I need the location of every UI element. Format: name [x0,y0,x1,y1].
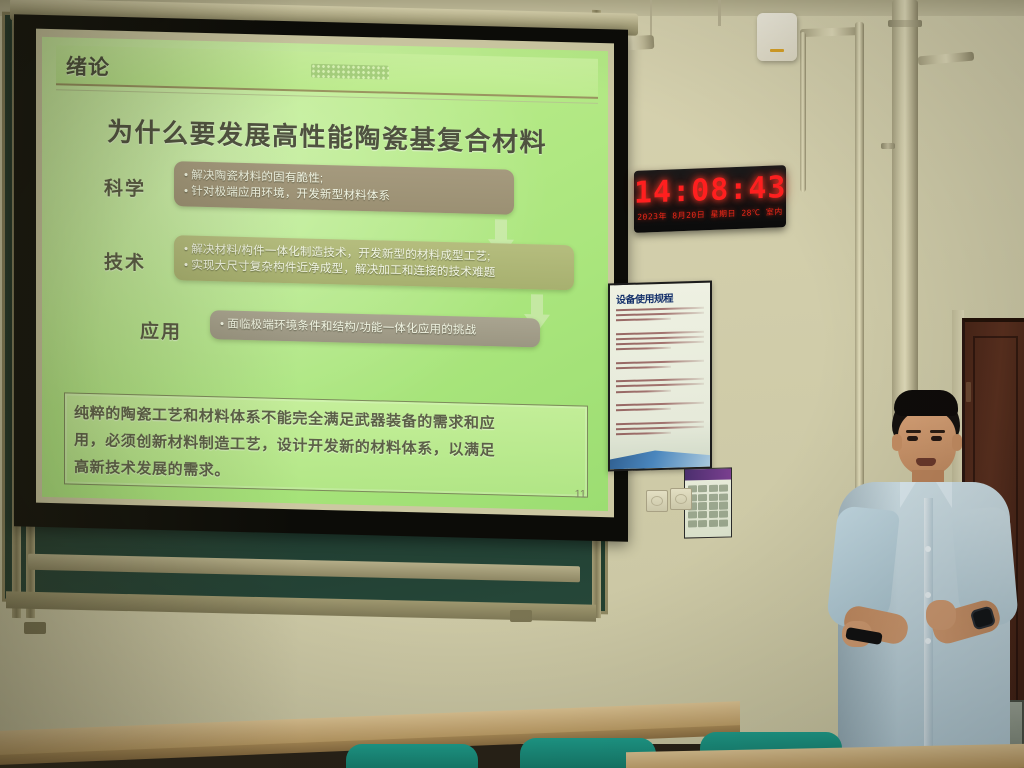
ceiling-hanger-rod [718,0,721,26]
presenter-shirt-placket [924,498,933,768]
poster-title: 设备使用规程 [616,289,706,307]
slide-page-number: 11 [575,488,586,500]
presenter-hair-fringe [894,390,958,416]
presenter-hand-right [926,600,956,630]
chair-1 [346,744,478,768]
digital-wall-clock: 14:08:43 2023年 8月20日 星期日 28℃ 室内 [634,165,786,233]
presenter-shirt-button [925,638,931,644]
presenter-person [820,378,1020,768]
poster-small-header [685,468,731,480]
presenter-eye-right [931,436,942,441]
pipe-band-upper [888,20,922,27]
presenter-mouth [916,458,936,466]
board-foot-right [510,610,532,622]
presenter-brow-left [906,430,921,433]
presenter-brow-right [930,430,945,433]
presenter-ear-right [952,434,962,451]
left-wall-shadow [0,0,300,768]
presenter-collar-left [900,482,916,508]
pipe-band-lower [881,143,895,149]
presenter-eye-left [907,436,918,441]
slide-ornament-icon [311,64,389,80]
poster-equipment-rules: 设备使用规程 [608,281,712,472]
clock-time-display: 14:08:43 [634,170,786,211]
presenter-ear-left [892,434,902,451]
poster-body-text [616,307,704,453]
wall-outlet-left[interactable] [646,490,668,512]
presenter-face [898,410,956,476]
wall-conduit [800,32,806,192]
poster-small-grid [688,485,728,528]
wifi-led-icon [770,49,784,52]
vertical-pipe-thick [892,0,918,420]
classroom-photo-scene: 绪论 为什么要发展高性能陶瓷基复合材料 科学 解决陶瓷材料的固有脆性; 针对极端… [0,0,1024,768]
presenter-shirt-button [925,592,931,598]
presenter-shirt-button [925,546,931,552]
presenter-collar-right [936,482,952,508]
wall-outlet-right[interactable] [670,488,692,510]
wifi-access-point [757,13,797,61]
